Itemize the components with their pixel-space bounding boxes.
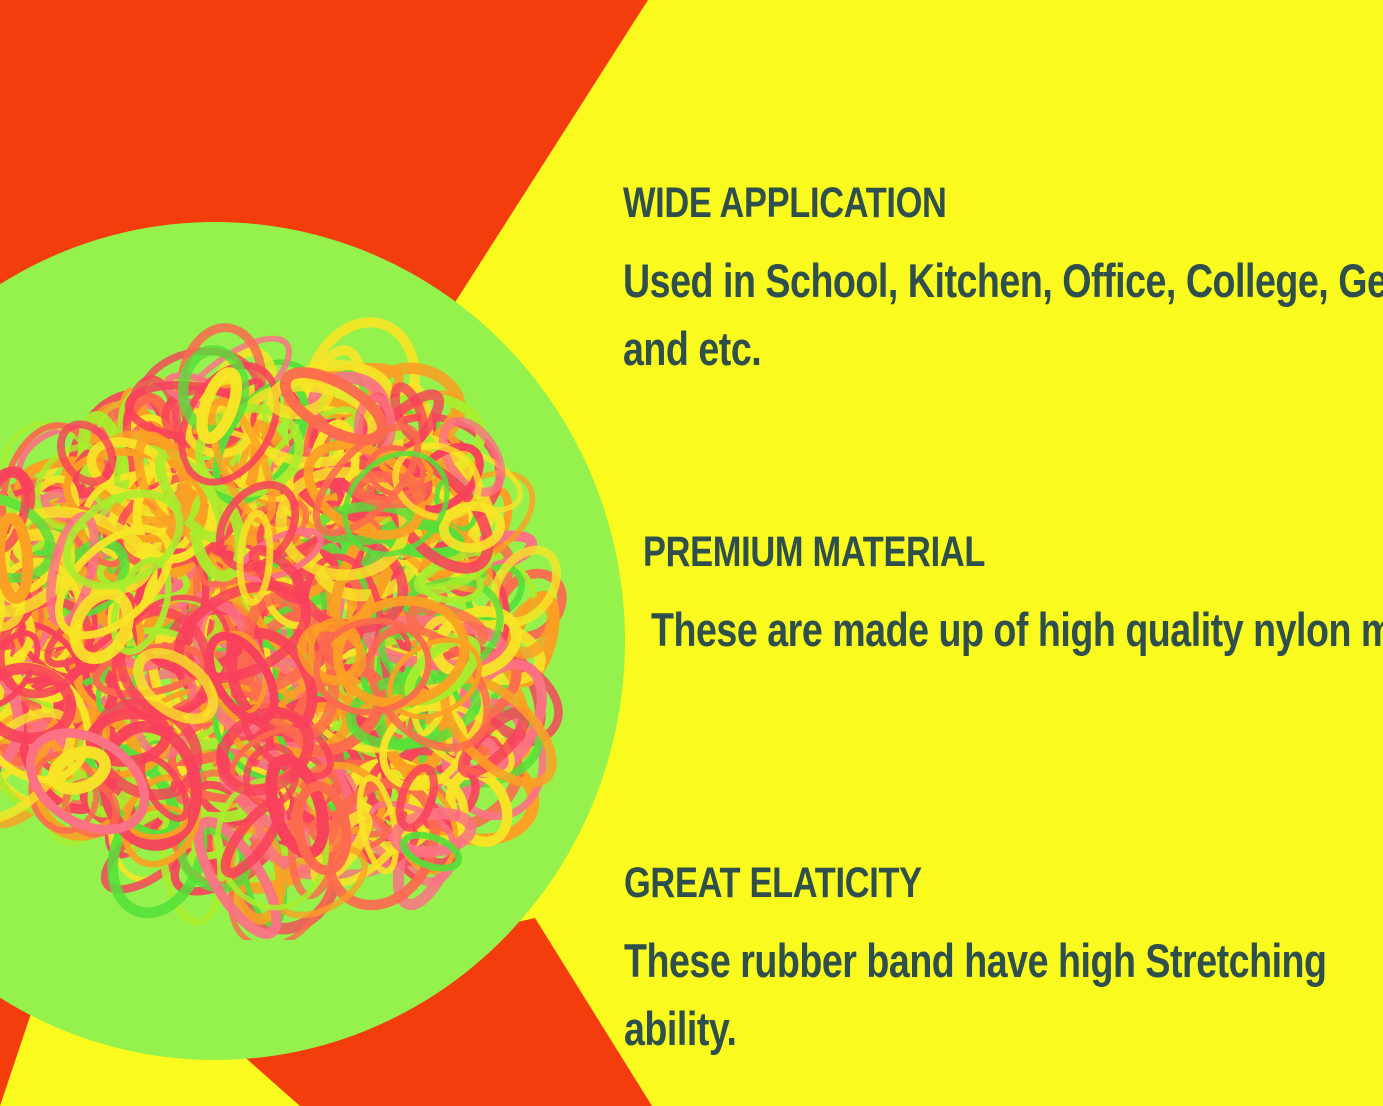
rubber-bands-graphic — [0, 300, 610, 940]
feature-body-line: These rubber band have high Stretching — [624, 927, 1327, 995]
feature-body-line: Used in School, Kitchen, Office, College… — [623, 247, 1383, 315]
feature-body-line: These are made up of high quality nylon … — [651, 596, 1383, 664]
feature-heading-great-elaticity: GREAT ELATICITY — [624, 862, 1327, 905]
feature-body-wide-application: Used in School, Kitchen, Office, College… — [623, 247, 1383, 383]
feature-body-premium-material: These are made up of high quality nylon … — [651, 596, 1383, 664]
feature-heading-wide-application: WIDE APPLICATION — [623, 182, 1383, 225]
feature-block-wide-application: WIDE APPLICATION Used in School, Kitchen… — [623, 182, 1383, 383]
feature-block-premium-material: PREMIUM MATERIAL These are made up of hi… — [643, 531, 1383, 664]
feature-heading-premium-material: PREMIUM MATERIAL — [643, 531, 1383, 574]
product-feature-infographic: WIDE APPLICATION Used in School, Kitchen… — [0, 0, 1383, 1106]
feature-block-great-elaticity: GREAT ELATICITY These rubber band have h… — [624, 862, 1383, 1063]
feature-body-line: ability. — [624, 995, 1327, 1063]
feature-body-line: and etc. — [623, 315, 1383, 383]
feature-body-great-elaticity: These rubber band have high Stretching a… — [624, 927, 1327, 1063]
rubber-band-pile-image — [0, 300, 610, 940]
